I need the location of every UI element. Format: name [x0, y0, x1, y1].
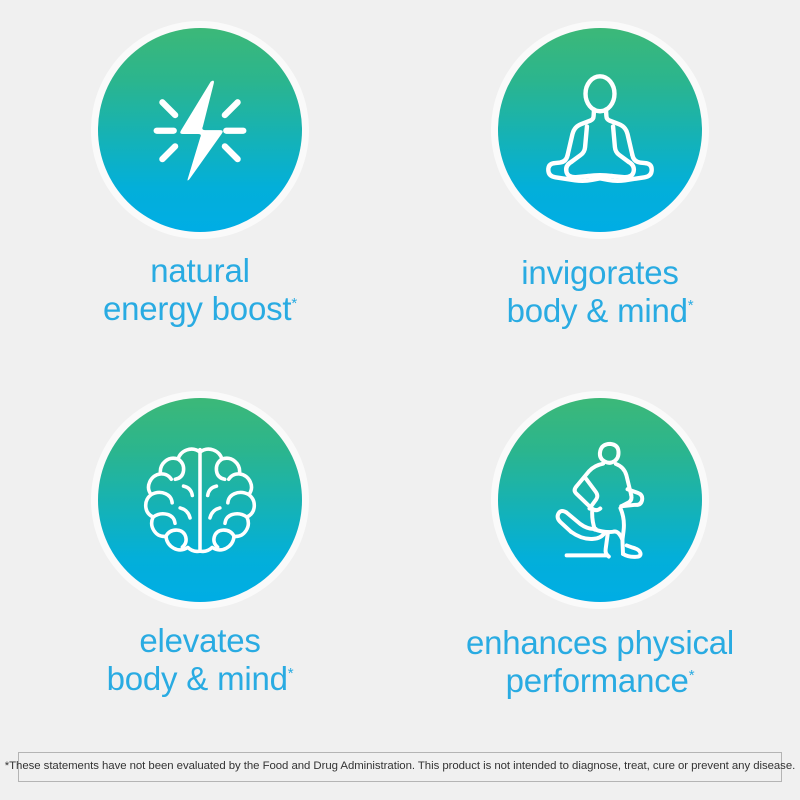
benefit-icon-badge — [498, 398, 702, 602]
benefit-grid: natural energy boost* — [0, 0, 800, 740]
benefit-icon-badge — [498, 28, 702, 232]
footnote-asterisk: * — [291, 295, 297, 312]
benefit-item-natural-energy-boost: natural energy boost* — [0, 0, 400, 370]
benefit-item-invigorates-body-and-mind: invigorates body & mind* — [400, 0, 800, 370]
benefits-infographic: natural energy boost* — [0, 0, 800, 800]
benefit-label-text: enhances physical performance — [466, 624, 734, 699]
benefit-label: enhances physical performance* — [466, 624, 734, 701]
meditation-lotus-pose-icon — [529, 59, 671, 201]
brain-icon — [129, 429, 271, 571]
benefit-icon-badge — [98, 398, 302, 602]
disclaimer-text: *These statements have not been evaluate… — [5, 761, 795, 772]
benefit-label-text: elevates body & mind — [107, 622, 288, 697]
benefit-label: invigorates body & mind* — [507, 254, 694, 331]
benefit-item-elevates-body-and-mind: elevates body & mind* — [0, 370, 400, 740]
footnote-asterisk: * — [689, 667, 695, 684]
benefit-label-text: invigorates body & mind — [507, 254, 688, 329]
benefit-icon-badge — [98, 28, 302, 232]
benefit-item-enhances-physical-performance: enhances physical performance* — [400, 370, 800, 740]
benefit-label-text: natural energy boost — [103, 252, 291, 327]
footnote-asterisk: * — [688, 297, 694, 314]
benefit-label: elevates body & mind* — [107, 622, 294, 699]
benefit-label: natural energy boost* — [103, 252, 297, 329]
footnote-asterisk: * — [288, 665, 294, 682]
lightning-bolt-icon — [129, 59, 271, 201]
disclaimer-bar: *These statements have not been evaluate… — [18, 752, 782, 782]
running-person-icon — [529, 429, 671, 571]
